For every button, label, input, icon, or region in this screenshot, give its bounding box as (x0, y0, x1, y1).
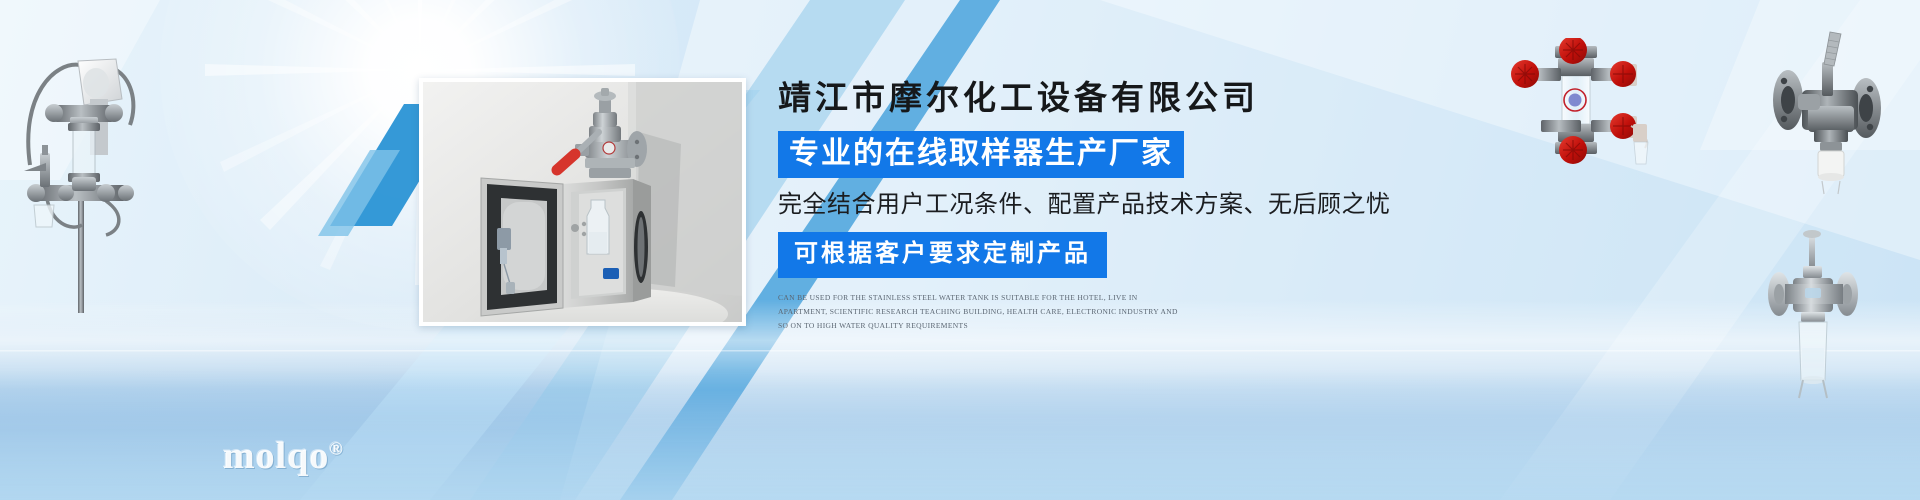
product-photo[interactable] (419, 78, 746, 326)
bottle-sampler-valve-icon (1745, 228, 1885, 408)
product-photo-image (423, 82, 742, 322)
registered-trademark-icon: ® (329, 438, 343, 458)
banner-text-block: 靖江市摩尔化工设备有限公司 专业的在线取样器生产厂家 完全结合用户工况条件、配置… (778, 80, 1418, 333)
sampler-cabinet-illustration (423, 82, 742, 322)
customization-highlight: 可根据客户要求定制产品 (778, 232, 1107, 278)
tagline-highlight: 专业的在线取样器生产厂家 (778, 131, 1184, 179)
value-proposition-line: 完全结合用户工况条件、配置产品技术方案、无后顾之忧 (778, 189, 1418, 220)
watermark-logo: molqo® (223, 434, 344, 478)
company-name: 靖江市摩尔化工设备有限公司 (778, 80, 1418, 120)
lever-sampling-valve-icon (1762, 28, 1892, 208)
left-product-sampler-icon (10, 25, 180, 315)
promotional-banner: 靖江市摩尔化工设备有限公司 专业的在线取样器生产厂家 完全结合用户工况条件、配置… (0, 0, 1920, 500)
english-description: CAN BE USED FOR THE STAINLESS STEEL WATE… (778, 291, 1178, 333)
watermark-text: molqo (223, 435, 329, 477)
cross-valve-sampler-icon (1505, 38, 1675, 168)
